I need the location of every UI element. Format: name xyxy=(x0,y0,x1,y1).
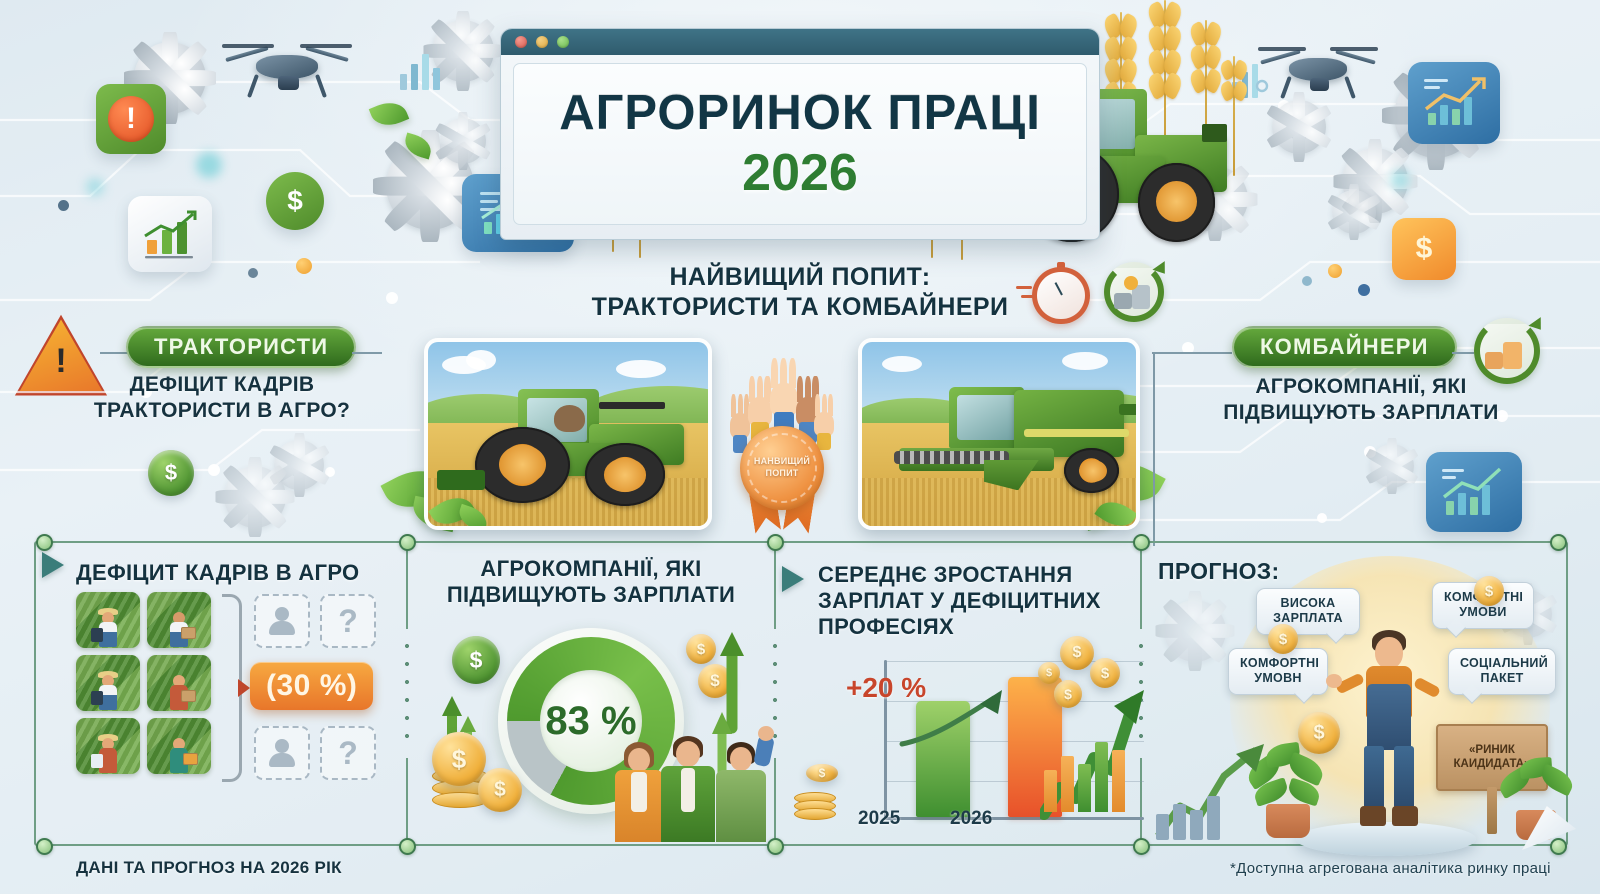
growth-chart-icon xyxy=(1418,73,1490,133)
accent-dot xyxy=(248,268,258,278)
growth-arrow-icon xyxy=(1152,740,1272,844)
accent-dot xyxy=(296,258,312,274)
connector-elbow xyxy=(1148,350,1158,550)
combine-photo-card xyxy=(858,338,1140,530)
connector-line xyxy=(352,352,382,354)
growth-curve-arrow xyxy=(898,684,1018,750)
red-dot-icon[interactable] xyxy=(515,36,527,48)
worker-photo xyxy=(76,592,140,648)
coin-stack-icon: $ $ xyxy=(428,724,528,812)
bar-chart-icon xyxy=(139,208,201,260)
divider-node xyxy=(399,534,416,551)
bar-chart-tile-icon xyxy=(1426,452,1522,532)
accent-dot xyxy=(1302,276,1312,286)
tractor-icon xyxy=(456,378,694,514)
highest-demand-medal: НАНВИЩИЙ ПОПИТ xyxy=(734,342,830,532)
divider-node xyxy=(1133,838,1150,855)
header-window: АГРОРИНОК ПРАЦІ 2026 xyxy=(500,28,1100,240)
dollar-coin-icon: $ xyxy=(1268,624,1298,654)
worker-photo xyxy=(147,592,211,648)
footer-right: *Доступна агрегована аналітика ринку пра… xyxy=(1230,860,1551,877)
bar-chart-tile-icon xyxy=(128,196,212,272)
divider-node xyxy=(767,534,784,551)
connector-line xyxy=(1452,352,1474,354)
alert-exclamation-icon: ! xyxy=(96,84,166,154)
benefit-bubble-comfortable-conditions-2: КОМФОРТНІ УМОВН xyxy=(1228,648,1328,695)
green-dot-icon[interactable] xyxy=(557,36,569,48)
panel-divider xyxy=(406,541,408,846)
panel-3-title-line-2: ЗАРПЛАТ У ДЕФІЦИТНИХ xyxy=(818,588,1138,614)
subtitle-line-2: ТРАКТОРИСТИ ТА КОМБАЙНЕРИ xyxy=(520,292,1080,322)
dollar-coin-icon: $ xyxy=(1474,576,1504,606)
glow-dot xyxy=(1390,170,1410,190)
right-caption-line-1: АГРОКОМПАНІЇ, ЯКІ xyxy=(1196,374,1526,400)
accent-dot xyxy=(1358,284,1370,296)
combine-harvester-icon xyxy=(884,370,1134,510)
subtitle-line-1: НАЙВИЩИЙ ПОПИТ: xyxy=(520,262,1080,292)
dollar-coin-icon: $ xyxy=(1392,218,1456,280)
people-group-icon xyxy=(612,736,772,842)
dollar-coin-icon: $ xyxy=(266,172,324,230)
farmer-illustration xyxy=(1348,630,1430,830)
placeholder-person xyxy=(254,594,310,648)
glow-dot xyxy=(196,152,222,178)
frame-node xyxy=(1550,534,1567,551)
worker-photo xyxy=(76,655,140,711)
placeholder-unknown: ? xyxy=(320,726,376,780)
worker-photo xyxy=(147,718,211,774)
accent-dot xyxy=(58,200,69,211)
divider-node xyxy=(1133,534,1150,551)
dollar-coin-icon: $ xyxy=(1060,636,1094,670)
label-pill-tractorists[interactable]: ТРАКТОРИСТИ xyxy=(126,326,356,368)
frame-node xyxy=(36,838,53,855)
glow-dot xyxy=(86,178,104,196)
accent-dot xyxy=(1328,264,1342,278)
growth-chart-icon xyxy=(1436,463,1512,521)
window-content: АГРОРИНОК ПРАЦІ 2026 xyxy=(513,63,1087,225)
gear-icon xyxy=(1370,444,1414,488)
page-title: АГРОРИНОК ПРАЦІ xyxy=(559,85,1041,141)
panel-3-title-line-1: СЕРЕДНЄ ЗРОСТАННЯ xyxy=(818,562,1138,588)
sparkline-icon xyxy=(396,44,446,94)
dollar-coin-icon: $ xyxy=(452,636,500,684)
yellow-dot-icon[interactable] xyxy=(536,36,548,48)
chart-tick-label: 2026 xyxy=(950,808,992,830)
subtitle: НАЙВИЩИЙ ПОПИТ: ТРАКТОРИСТИ ТА КОМБАЙНЕР… xyxy=(520,262,1080,322)
coin-stack-icon: $ xyxy=(794,758,860,820)
dollar-coin-icon: $ xyxy=(1038,662,1060,684)
bracket-arrow xyxy=(238,679,250,697)
dollar-coin-icon: $ xyxy=(686,634,716,664)
stopwatch-icon xyxy=(1030,262,1092,324)
left-side-caption: ДЕФІЦИТ КАДРІВ ТРАКТОРИСТИ В АГРО? xyxy=(62,372,382,425)
frame-node xyxy=(36,534,53,551)
chart-tick-label: 2025 xyxy=(858,808,900,830)
medal-line-1: НАНВИЩИЙ xyxy=(754,456,810,467)
label-pill-combine-operators[interactable]: КОМБАЙНЕРИ xyxy=(1232,326,1457,368)
frame-node xyxy=(1550,838,1567,855)
window-titlebar xyxy=(501,29,1099,55)
medal-disc: НАНВИЩИЙ ПОПИТ xyxy=(740,426,824,510)
panel-2-title: АГРОКОМПАНІЇ, ЯКІ ПІДВИЩУЮТЬ ЗАРПЛАТИ xyxy=(420,556,762,608)
page-title-year: 2026 xyxy=(742,143,858,203)
panel-marker xyxy=(782,566,804,592)
right-side-caption: АГРОКОМПАНІЇ, ЯКІ ПІДВИЩУЮТЬ ЗАРПЛАТИ xyxy=(1196,374,1526,427)
bar-chart-tile-icon xyxy=(1408,62,1500,144)
panel-marker xyxy=(42,552,64,578)
placeholder-unknown: ? xyxy=(320,594,376,648)
gear-icon xyxy=(224,466,286,528)
gear-icon xyxy=(1332,190,1376,234)
drone-icon xyxy=(1258,32,1378,108)
gear-icon xyxy=(1272,100,1326,154)
benefit-bubble-social-package: СОЦІАЛЬНИЙ ПАКЕТ xyxy=(1448,648,1556,695)
left-caption-line-1: ДЕФІЦИТ КАДРІВ xyxy=(62,372,382,398)
panel-1-title: ДЕФІЦИТ КАДРІВ В АГРО xyxy=(76,560,388,586)
panel-2-title-line-2: ПІДВИЩУЮТЬ ЗАРПЛАТИ xyxy=(420,582,762,608)
mini-bar-chart xyxy=(1044,742,1125,812)
placeholder-person xyxy=(254,726,310,780)
footer-left: ДАНІ ТА ПРОГНОЗ НА 2026 РІК xyxy=(76,858,342,878)
deficit-badge: (30 %) xyxy=(250,662,373,710)
connector-line xyxy=(100,352,128,354)
right-caption-line-2: ПІДВИЩУЮТЬ ЗАРПЛАТИ xyxy=(1196,400,1526,426)
dollar-coin-icon: $ xyxy=(148,450,194,496)
medal-line-2: ПОПИТ xyxy=(754,468,810,479)
worker-photo xyxy=(147,655,211,711)
panel-2-title-line-1: АГРОКОМПАНІЇ, ЯКІ xyxy=(420,556,762,582)
left-caption-line-2: ТРАКТОРИСТИ В АГРО? xyxy=(62,398,382,424)
panel-divider xyxy=(774,541,776,846)
gear-icon xyxy=(440,118,486,164)
drone-icon xyxy=(222,28,352,108)
worker-photo xyxy=(76,718,140,774)
panel-4-title: ПРОГНОЗ: xyxy=(1158,558,1279,585)
divider-node xyxy=(399,838,416,855)
growth-arrow-icon xyxy=(1104,262,1164,322)
panel-3-title-line-3: ПРОФЕСІЯХ xyxy=(818,614,1138,640)
tractor-photo-card xyxy=(424,338,712,530)
connector-line xyxy=(1152,352,1232,354)
panel-3-title: СЕРЕДНЄ ЗРОСТАННЯ ЗАРПЛАТ У ДЕФІЦИТНИХ П… xyxy=(818,562,1138,640)
worker-grid xyxy=(76,592,211,774)
